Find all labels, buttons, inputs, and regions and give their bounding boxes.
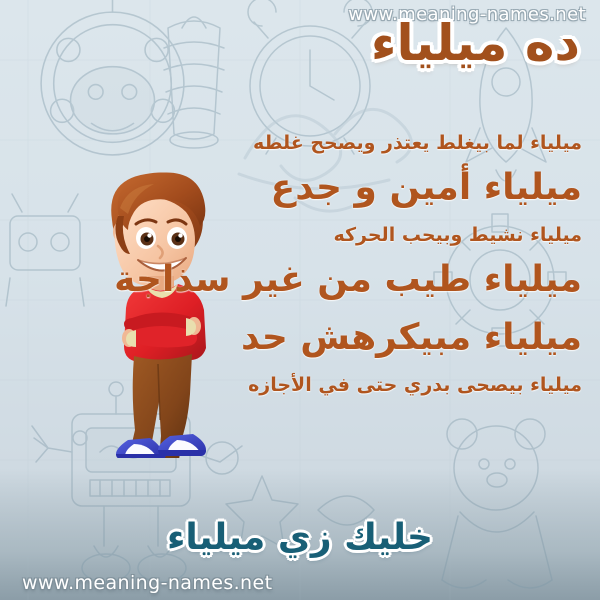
- trait-line: ميلياء طيب من غير سذاجة: [210, 254, 582, 306]
- watermark-bottom: www.meaning-names.net: [22, 572, 272, 594]
- trait-line: ميلياء مبيكرهش حد: [210, 312, 582, 364]
- trait-line: ميلياء لما بيغلط يعتذر ويصحح غلطه: [210, 128, 582, 158]
- slogan-text: خليك زي ميلياء: [0, 520, 600, 556]
- cartoon-boy-illustration: [88, 168, 228, 458]
- trait-line: ميلياء بيصحى بدري حتى في الأجازه: [210, 370, 582, 400]
- name-meaning-card: www.meaning-names.net ده ميلياء: [0, 0, 600, 600]
- trait-line: ميلياء نشيط وبيحب الحركه: [210, 220, 582, 250]
- trait-line: ميلياء أمين و جدع: [210, 162, 582, 214]
- page-title: ده ميلياء: [371, 18, 580, 68]
- trait-list: ميلياء لما بيغلط يعتذر ويصحح غلطه ميلياء…: [210, 128, 582, 404]
